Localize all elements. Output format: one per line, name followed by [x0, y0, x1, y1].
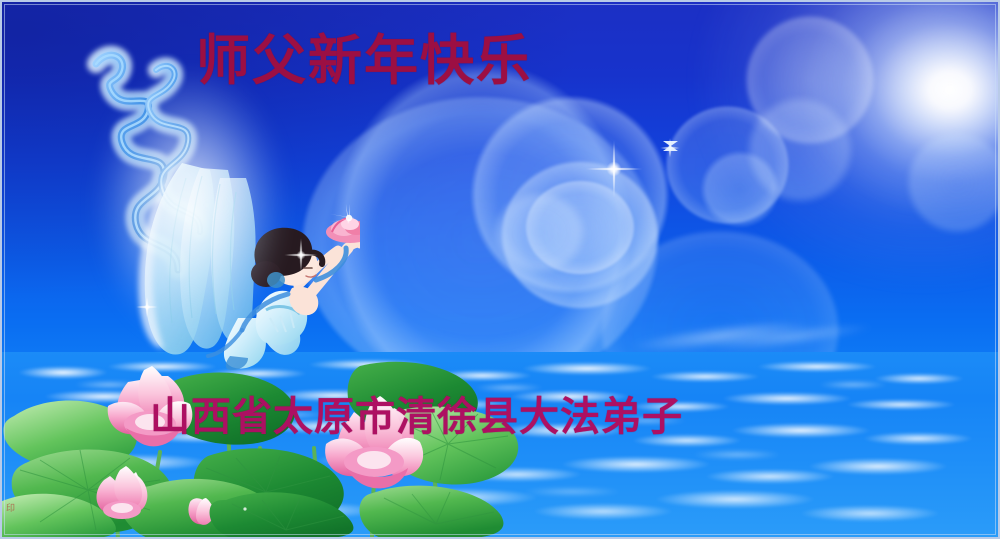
greeting-card: 师父新年快乐 山西省太原市清徐县大法弟子 印: [0, 0, 1000, 539]
sparkle-star-icon: [585, 140, 643, 198]
sparkle-star-robe-icon: [136, 296, 158, 318]
signature-text: 山西省太原市清徐县大法弟子: [150, 396, 683, 438]
lens-flare-bubble-e: [492, 190, 587, 275]
lotus-leaf: [360, 486, 504, 539]
lotus-illustration: [0, 352, 520, 539]
sparkle-star-wing-icon: [284, 238, 318, 272]
seal-watermark: 印: [6, 505, 20, 523]
lotus-cluster: [0, 352, 520, 539]
greeting-title: 师父新年快乐: [196, 32, 532, 90]
lens-flare-bubble-i: [745, 95, 855, 205]
held-lotus: [326, 218, 360, 243]
lens-flare-bubble-j: [905, 130, 1000, 235]
